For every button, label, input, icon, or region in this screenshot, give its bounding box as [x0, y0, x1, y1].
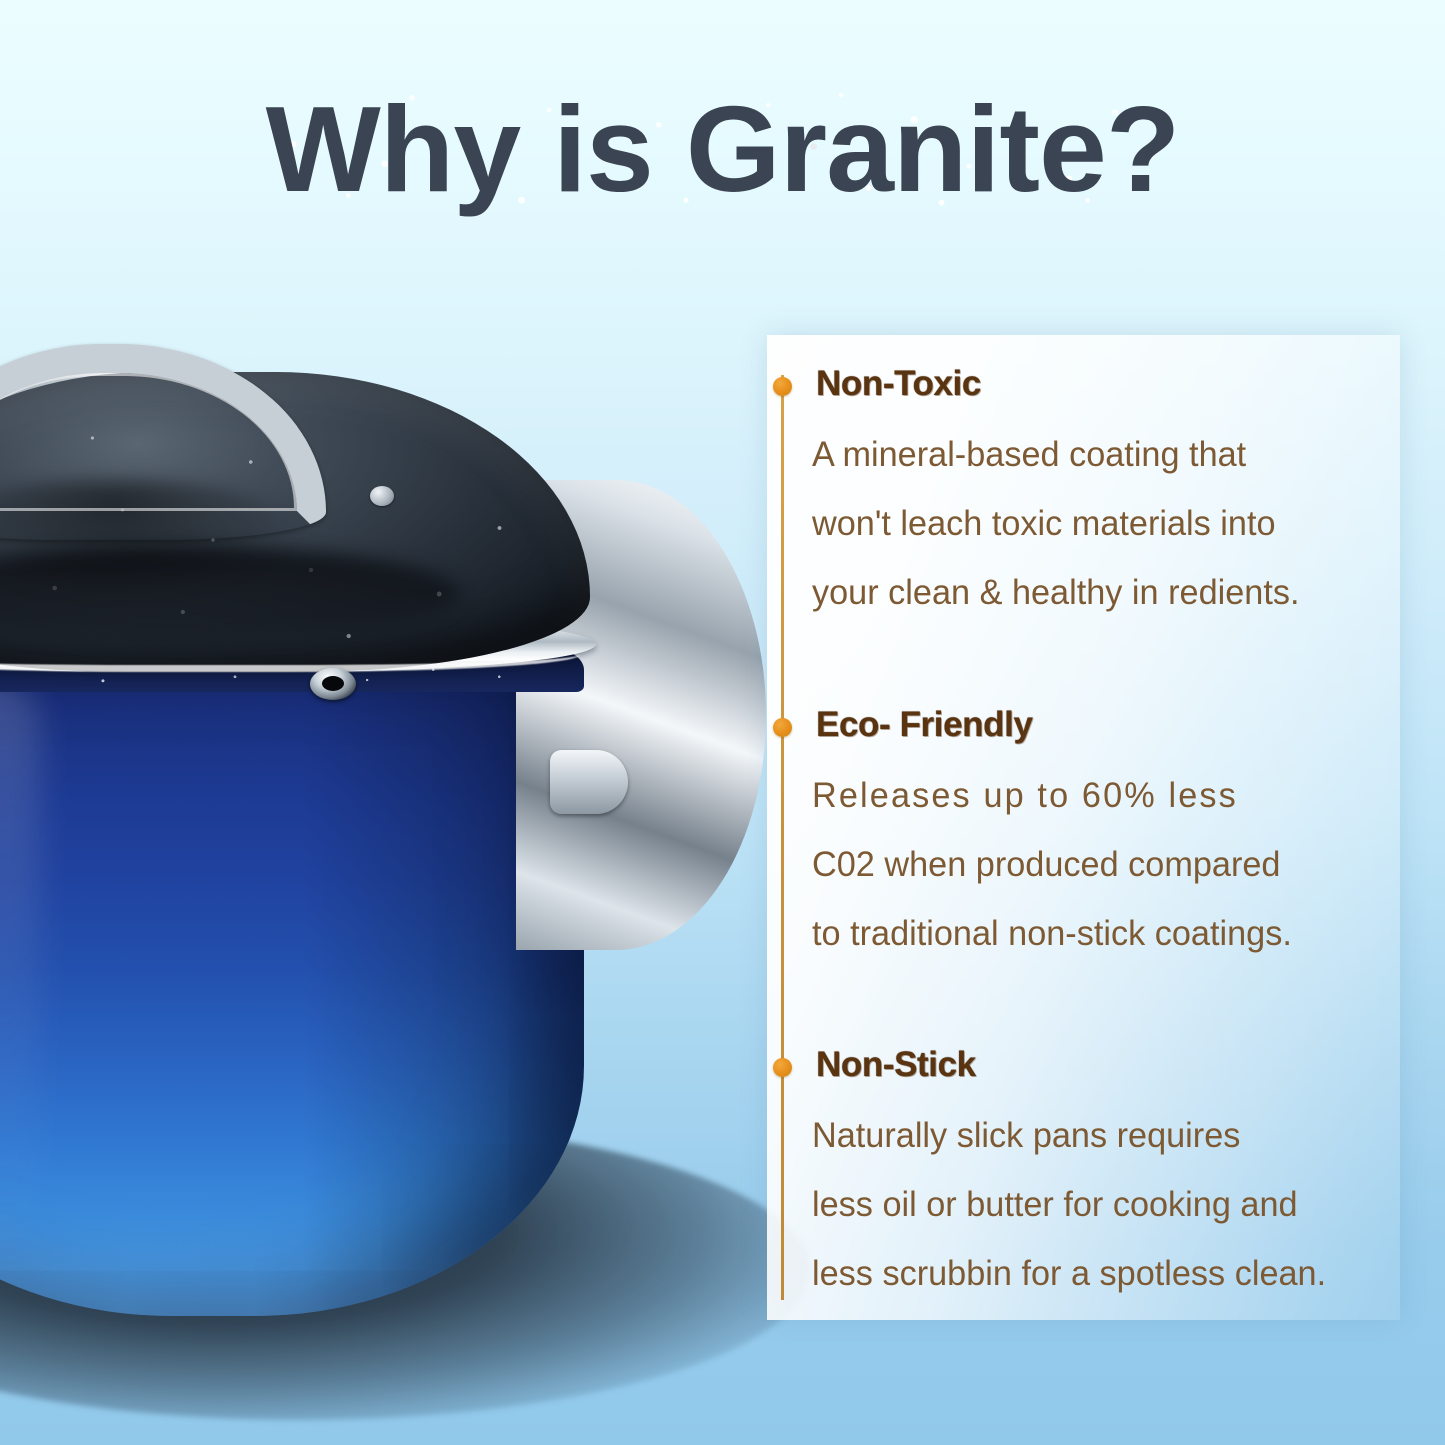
feature-body: Releases up to 60% less C02 when produce…	[812, 761, 1379, 968]
steam-vent-hole	[322, 676, 344, 691]
feature-body-line: A mineral-based coating that	[812, 420, 1379, 489]
feature-heading: Non-Toxic	[816, 364, 981, 404]
page-title-container: Why is Granite?	[0, 88, 1445, 210]
pot-body-highlight	[0, 670, 40, 1270]
bullet-dot-icon	[773, 1058, 792, 1077]
feature-body-line: Releases up to 60% less	[812, 761, 1379, 830]
bullet-dot-icon	[773, 718, 792, 737]
page-title: Why is Granite?	[266, 88, 1180, 210]
pot-body	[0, 648, 584, 1316]
timeline-line	[781, 375, 784, 1300]
feature-body-line: your clean & healthy in redients.	[812, 558, 1379, 627]
infographic-canvas: Why is Granite? Non-Toxic A mineral-base…	[0, 0, 1445, 1445]
feature-body: A mineral-based coating that won't leach…	[812, 420, 1379, 627]
feature-body-line: less oil or butter for cooking and	[812, 1170, 1379, 1239]
features-panel: Non-Toxic A mineral-based coating that w…	[767, 335, 1400, 1320]
bullet-dot-icon	[773, 377, 792, 396]
feature-heading: Non-Stick	[816, 1045, 976, 1085]
pot-side-handle-bracket	[550, 750, 628, 814]
page-title-text: Why is Granite?	[266, 81, 1180, 217]
feature-body-line: less scrubbin for a spotless clean.	[812, 1239, 1379, 1308]
feature-body: Naturally slick pans requires less oil o…	[812, 1101, 1379, 1308]
feature-heading: Eco- Friendly	[816, 705, 1033, 745]
lid-handle-rivet	[370, 486, 394, 506]
feature-body-line: C02 when produced compared	[812, 830, 1379, 899]
feature-body-line: won't leach toxic materials into	[812, 489, 1379, 558]
feature-body-line: Naturally slick pans requires	[812, 1101, 1379, 1170]
feature-body-line: to traditional non-stick coatings.	[812, 899, 1379, 968]
product-image-pot	[0, 330, 850, 1445]
